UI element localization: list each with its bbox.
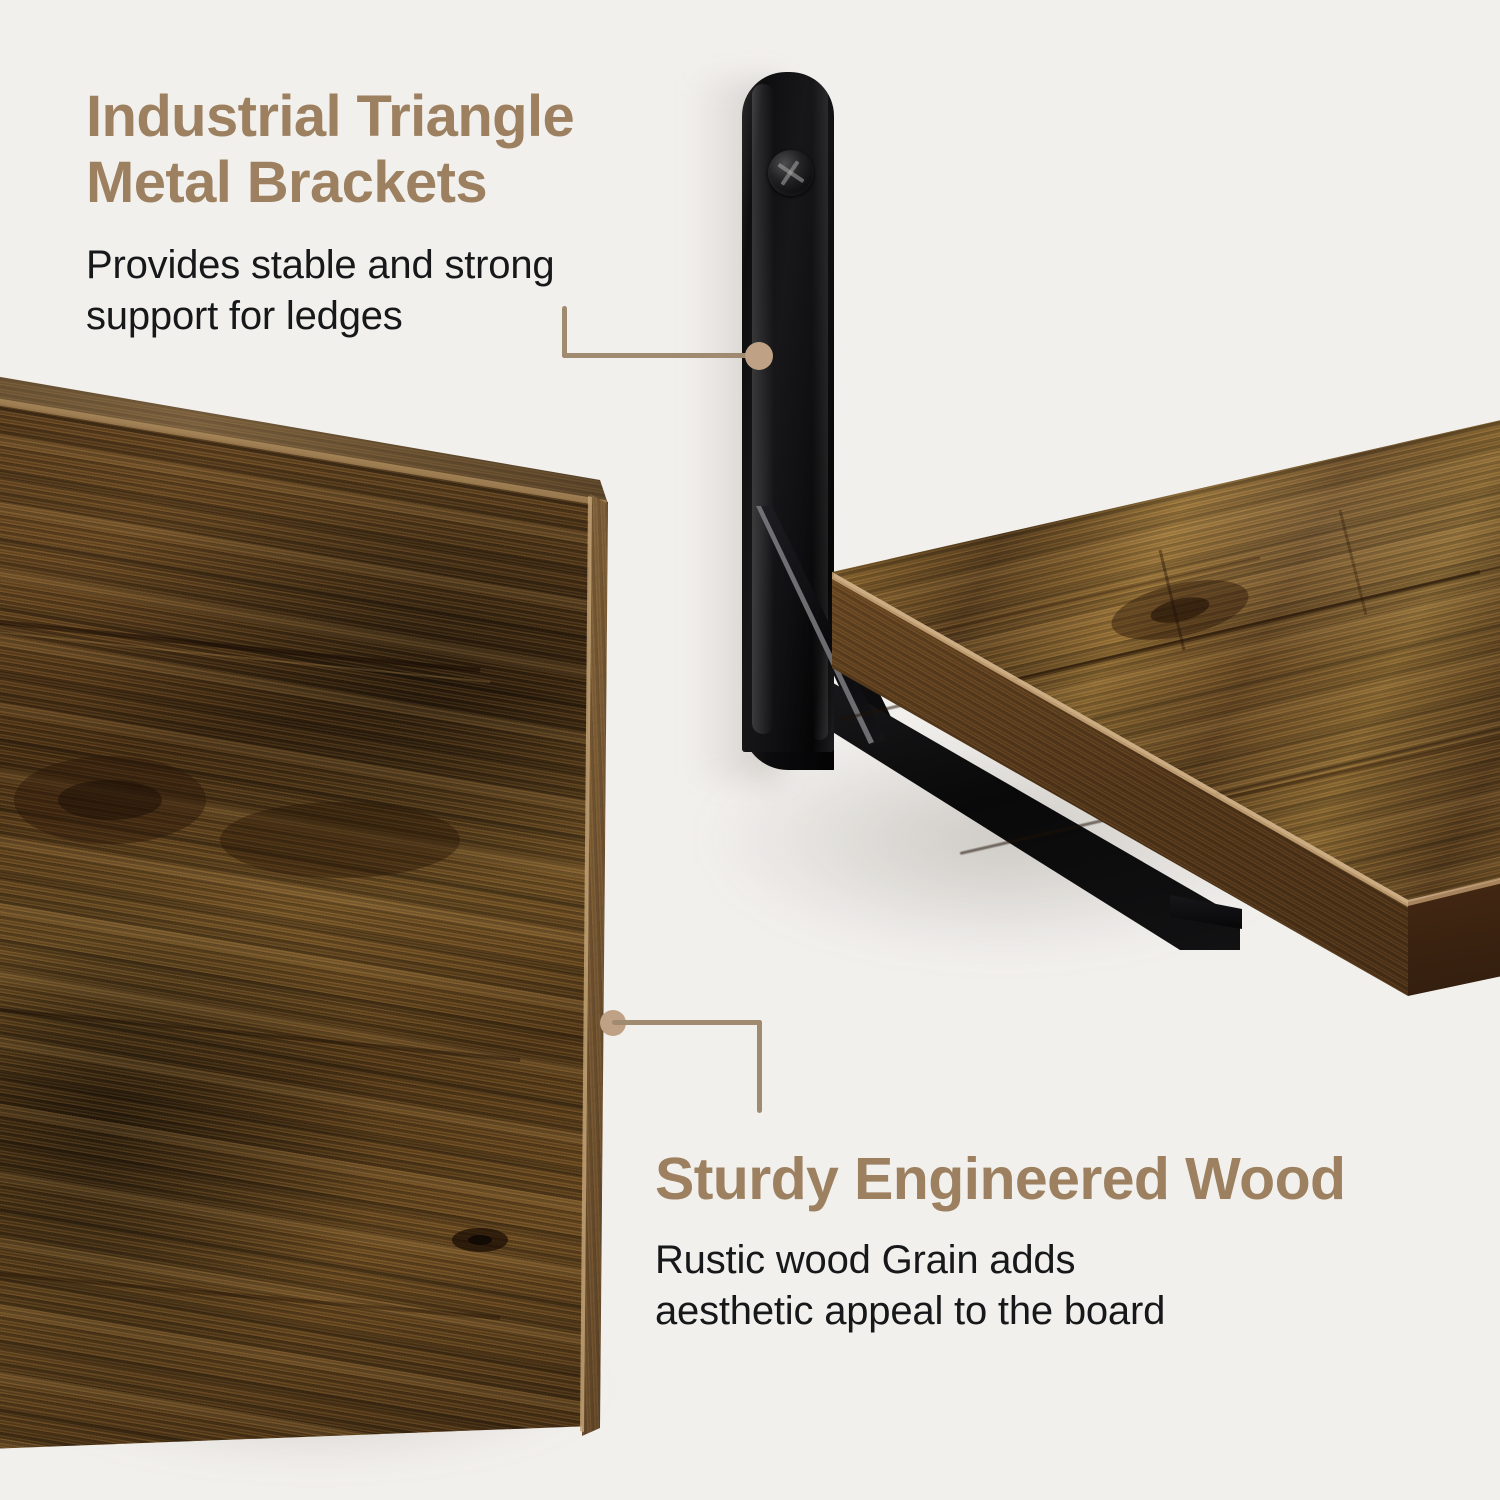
callout-line-brackets-horizontal [562,353,760,358]
feature-block-engineered-wood: Sturdy Engineered Wood Rustic wood Grain… [655,1146,1345,1336]
wood-shelf-right [780,400,1500,1040]
wood-knots [0,370,620,1450]
wood-board-left [0,370,640,1450]
feature-block-metal-brackets: Industrial Triangle Metal Brackets Provi… [86,84,574,341]
wood-board-left-face [0,370,620,1450]
callout-line-wood-vertical [757,1020,762,1113]
feature-description-metal-brackets: Provides stable and strong support for l… [86,240,574,341]
callout-dot-brackets [745,342,773,370]
feature-heading-engineered-wood: Sturdy Engineered Wood [655,1146,1345,1213]
callout-line-wood-horizontal [612,1020,762,1025]
feature-heading-metal-brackets: Industrial Triangle Metal Brackets [86,84,574,216]
product-feature-image: Industrial Triangle Metal Brackets Provi… [0,0,1500,1500]
phillips-screw-icon [768,150,814,196]
feature-description-engineered-wood: Rustic wood Grain adds aesthetic appeal … [655,1235,1345,1336]
